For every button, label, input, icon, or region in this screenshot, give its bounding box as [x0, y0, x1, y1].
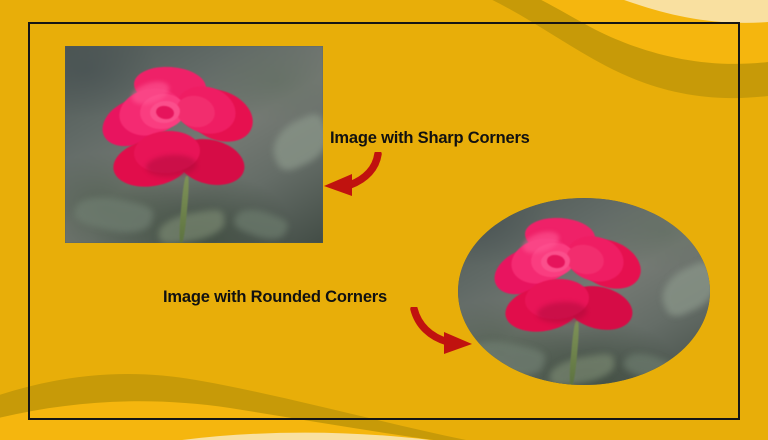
deco-swoosh-tr-cream — [592, 0, 768, 23]
label-rounded-corners: Image with Rounded Corners — [163, 288, 387, 307]
rose-photo-sharp[interactable] — [65, 46, 323, 243]
curved-arrow-left-icon — [316, 152, 392, 200]
rose-bloom — [493, 222, 639, 327]
rose-photo-rounded[interactable] — [458, 198, 710, 385]
arrow-to-rounded-image — [404, 307, 480, 360]
slide-canvas: Image with Sharp Corners Image with Roun… — [0, 0, 768, 440]
deco-swoosh-bl-cream — [120, 433, 520, 440]
rose-bloom — [101, 72, 251, 182]
label-sharp-corners: Image with Sharp Corners — [330, 129, 530, 148]
curved-arrow-right-icon — [404, 307, 480, 355]
arrow-to-sharp-image — [316, 152, 392, 205]
